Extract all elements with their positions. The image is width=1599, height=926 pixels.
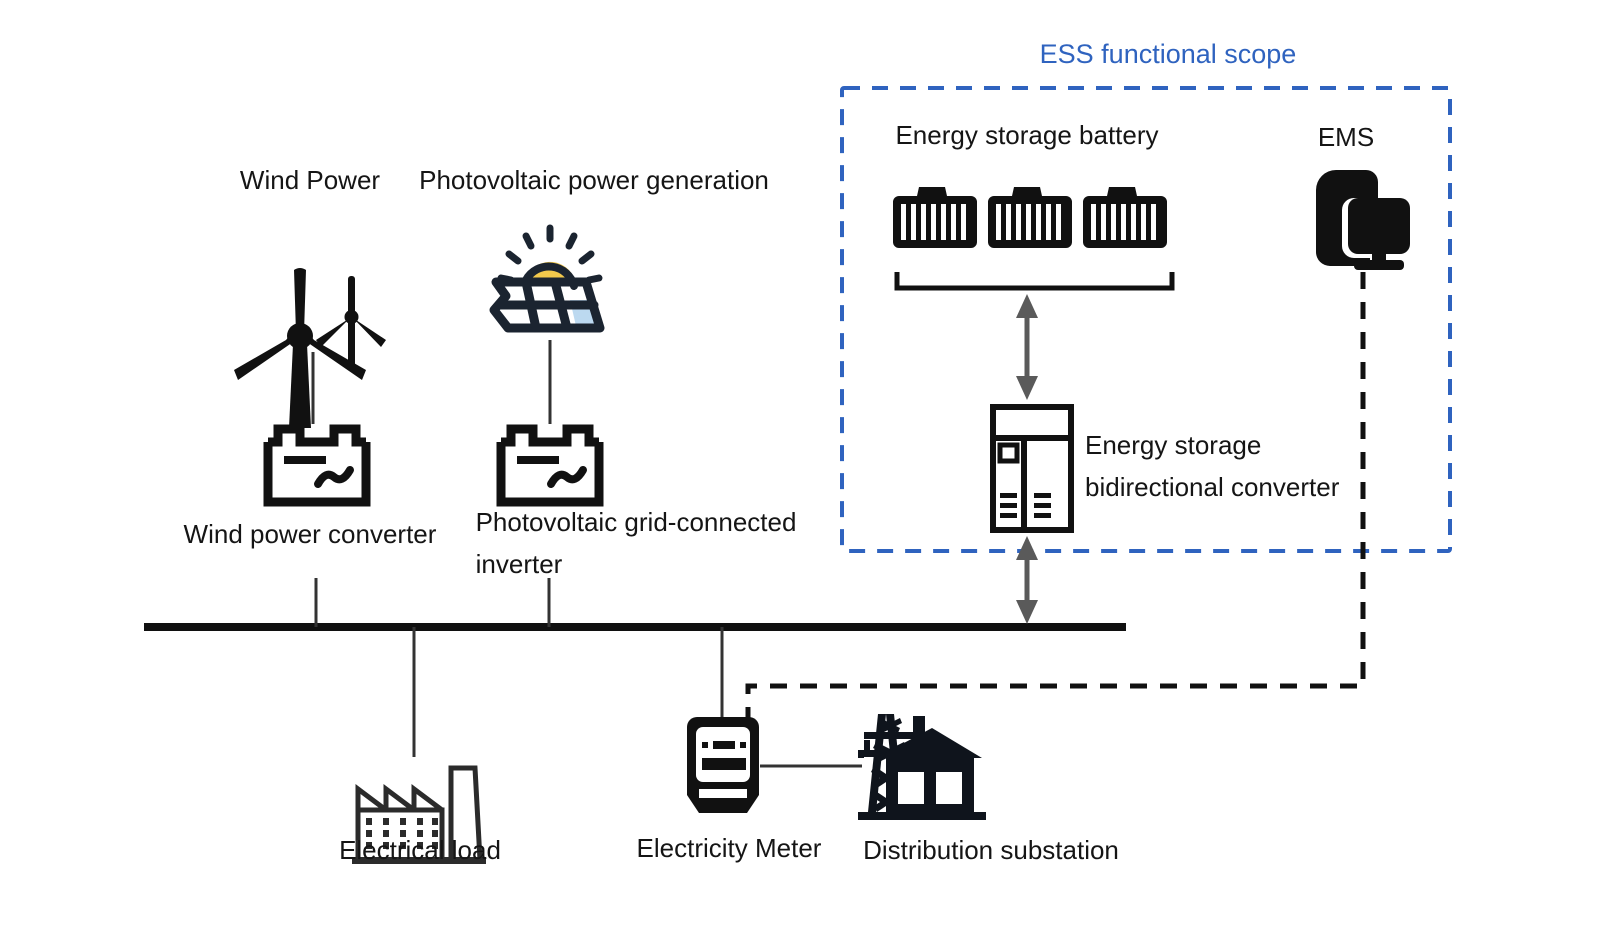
pv-inverter-label-line2: inverter	[476, 549, 563, 579]
bidirectional-converter-icon	[993, 407, 1071, 530]
bidirectional-converter-label-line1: Energy storage	[1085, 430, 1261, 460]
wind-turbine-icon	[234, 268, 386, 428]
battery-bank-bracket	[897, 272, 1172, 288]
power-converter-icon-wind	[268, 429, 366, 502]
electricity-meter-icon	[687, 717, 759, 813]
storage-battery-icon-group	[893, 187, 1167, 248]
electricity-meter-label: Electricity Meter	[637, 833, 822, 863]
bidirectional-converter-label-line2: bidirectional converter	[1085, 472, 1340, 502]
distribution-substation-icon	[858, 714, 986, 820]
pv-power-generation-label: Photovoltaic power generation	[419, 165, 769, 195]
power-converter-icon-pv	[501, 429, 599, 502]
ems-label: EMS	[1318, 122, 1374, 152]
storage-battery-icon	[988, 187, 1072, 248]
ess-scope-label: ESS functional scope	[1040, 39, 1297, 69]
solar-panel-icon	[494, 228, 600, 328]
pv-inverter-label-line1: Photovoltaic grid-connected	[476, 507, 797, 537]
storage-battery-icon	[893, 187, 977, 248]
distribution-substation-label: Distribution substation	[863, 835, 1119, 865]
storage-battery-icon	[1083, 187, 1167, 248]
microgrid-diagram: ESS functional scope Wind Power	[0, 0, 1599, 926]
wind-power-label: Wind Power	[240, 165, 380, 195]
battery-converter-arrow	[1016, 294, 1038, 400]
wind-power-converter-label: Wind power converter	[184, 519, 437, 549]
ems-computer-icon	[1316, 170, 1410, 270]
energy-storage-battery-label: Energy storage battery	[895, 120, 1158, 150]
electrical-load-label: Electrical load	[339, 835, 501, 865]
